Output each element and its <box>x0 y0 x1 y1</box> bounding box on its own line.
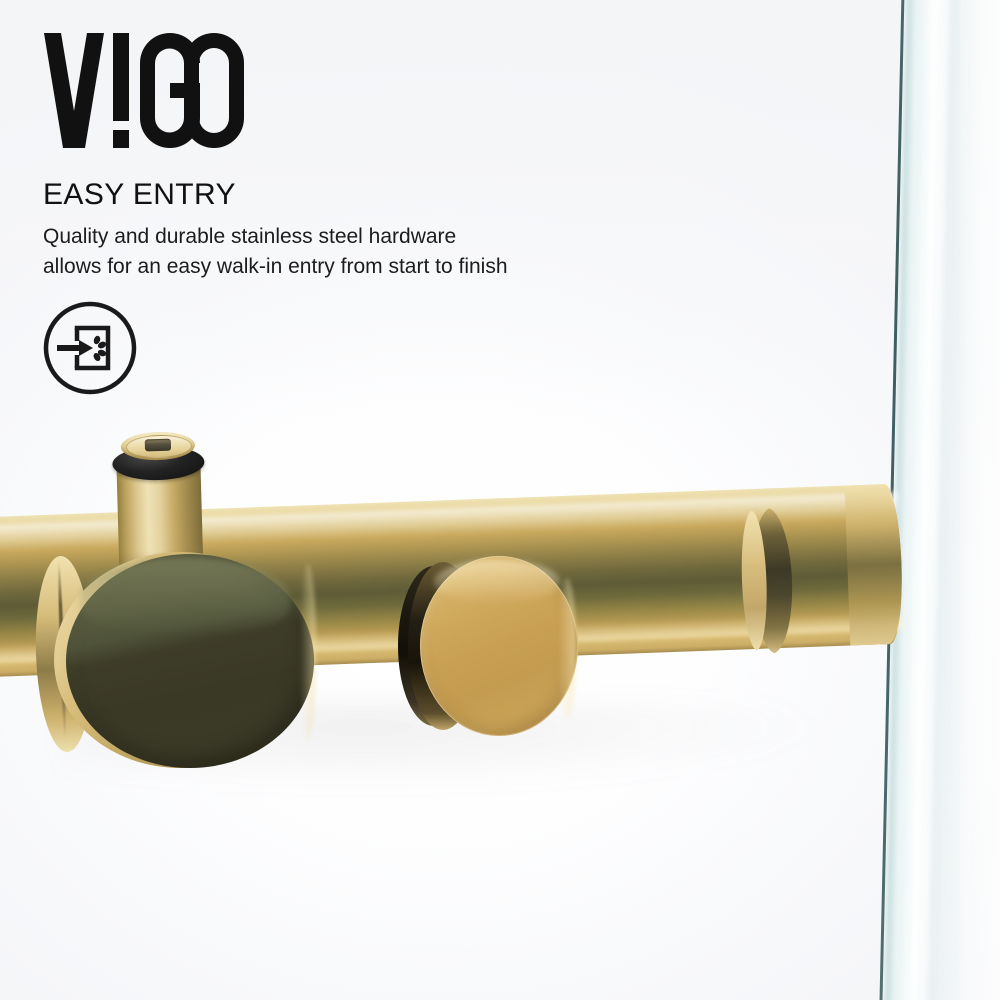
feature-description-line-1: Quality and durable stainless steel hard… <box>43 222 508 252</box>
product-feature-image: EASY ENTRY Quality and durable stainless… <box>0 0 1000 1000</box>
glass-panel-outer-fade <box>960 0 1000 1000</box>
feature-headline: EASY ENTRY <box>43 178 236 212</box>
roller-wheel-cover <box>58 548 314 772</box>
walk-in-entry-icon <box>42 300 138 396</box>
feature-description: Quality and durable stainless steel hard… <box>43 222 508 282</box>
guide-disc-highlight <box>434 560 560 604</box>
roller-wheel-cover-sheen <box>80 558 290 636</box>
roller-post-hex-socket <box>145 439 171 452</box>
header-rail-collar <box>743 507 794 655</box>
guide-disc <box>398 556 578 742</box>
feature-description-line-2: allows for an easy walk-in entry from st… <box>43 252 508 282</box>
vigo-logo <box>44 33 244 148</box>
roller-wheel-cover-edge-highlight <box>300 564 316 740</box>
guide-disc-right-shine <box>558 578 576 718</box>
